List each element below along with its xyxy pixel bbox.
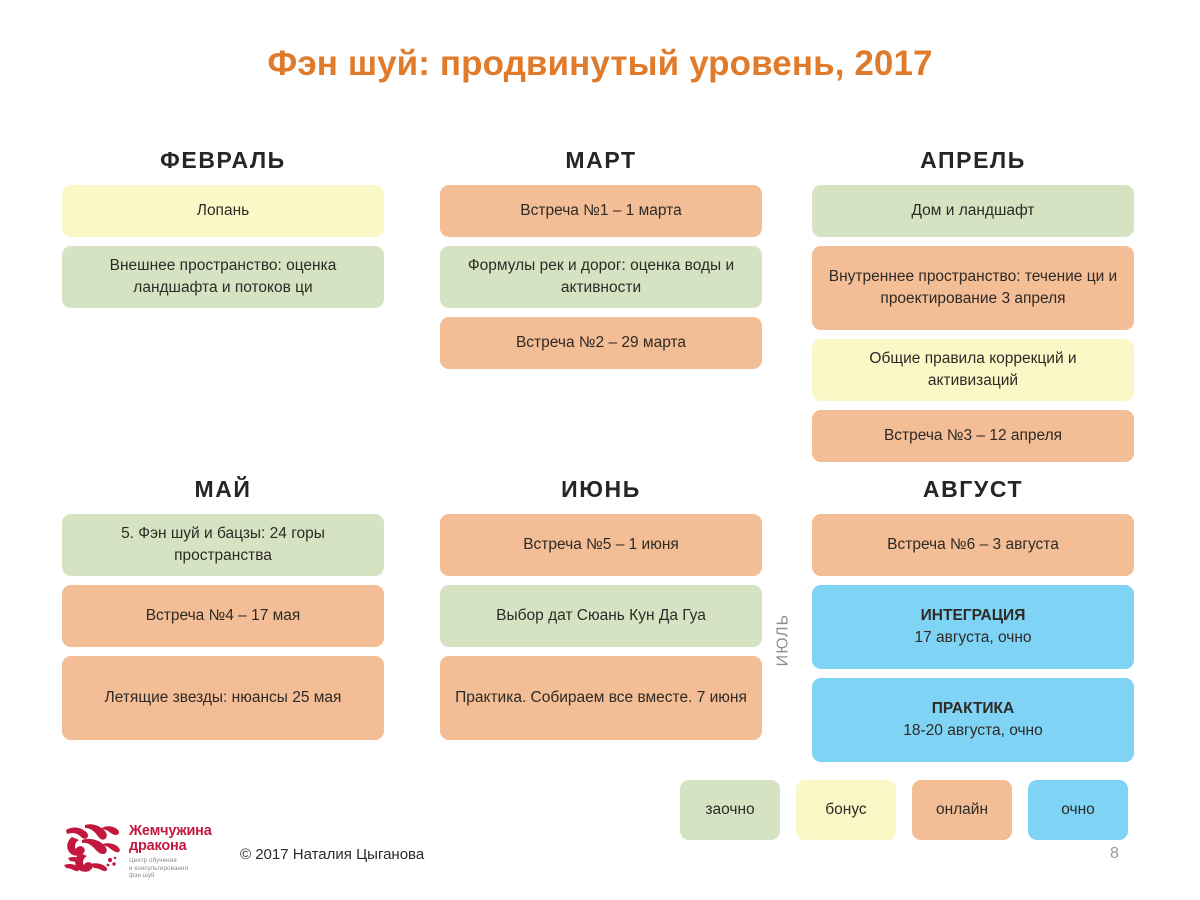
card-text: Внутреннее пространство: течение ци и пр… [826, 266, 1120, 310]
month-column-february: ФЕВРАЛЬ Лопань Внешнее пространство: оце… [62, 147, 384, 317]
card-may-3[interactable]: Летящие звезды: нюансы 25 мая [62, 656, 384, 740]
month-column-august: АВГУСТ Встреча №6 – 3 августа ИНТЕГРАЦИЯ… [812, 476, 1134, 771]
card-february-1[interactable]: Лопань [62, 185, 384, 237]
card-text: Встреча №2 – 29 марта [454, 332, 748, 354]
card-text: Общие правила коррекций и активизаций [826, 348, 1120, 392]
card-text: Летящие звезды: нюансы 25 мая [76, 687, 370, 709]
legend-item-bonus[interactable]: бонус [796, 780, 896, 840]
legend-label: заочно [705, 801, 754, 819]
card-may-1[interactable]: 5. Фэн шуй и бацзы: 24 горы пространства [62, 514, 384, 576]
card-april-2[interactable]: Внутреннее пространство: течение ци и пр… [812, 246, 1134, 330]
card-march-1[interactable]: Встреча №1 – 1 марта [440, 185, 762, 237]
card-june-1[interactable]: Встреча №5 – 1 июня [440, 514, 762, 576]
card-text: Формулы рек и дорог: оценка воды и актив… [454, 255, 748, 299]
month-heading-march: МАРТ [440, 147, 762, 174]
card-text: Встреча №4 – 17 мая [76, 605, 370, 627]
card-june-3[interactable]: Практика. Собираем все вместе. 7 июня [440, 656, 762, 740]
brand-name-line2: дракона [129, 839, 212, 854]
card-text: Встреча №5 – 1 июня [454, 534, 748, 556]
card-august-integration[interactable]: ИНТЕГРАЦИЯ 17 августа, очно [812, 585, 1134, 669]
card-april-4[interactable]: Встреча №3 – 12 апреля [812, 410, 1134, 462]
card-march-2[interactable]: Формулы рек и дорог: оценка воды и актив… [440, 246, 762, 308]
month-heading-june: ИЮНЬ [440, 476, 762, 503]
dragon-icon [58, 820, 122, 878]
brand-tagline-line1: Центр обучения [129, 857, 212, 865]
card-august-1[interactable]: Встреча №6 – 3 августа [812, 514, 1134, 576]
month-heading-february: ФЕВРАЛЬ [62, 147, 384, 174]
legend-label: очно [1061, 801, 1095, 819]
card-february-2[interactable]: Внешнее пространство: оценка ландшафта и… [62, 246, 384, 308]
card-title: ИНТЕГРАЦИЯ [921, 607, 1026, 624]
legend: заочно бонус онлайн очно [680, 780, 1128, 840]
card-text: 5. Фэн шуй и бацзы: 24 горы пространства [76, 523, 370, 567]
card-text: Встреча №3 – 12 апреля [826, 425, 1120, 447]
brand-name-line1: Жемчужина [129, 824, 212, 839]
month-column-april: АПРЕЛЬ Дом и ландшафт Внутреннее простра… [812, 147, 1134, 471]
month-heading-august: АВГУСТ [812, 476, 1134, 503]
month-label-july-text: ИЮЛЬ [774, 614, 792, 667]
card-title: ПРАКТИКА [932, 700, 1014, 717]
month-column-june: ИЮНЬ Встреча №5 – 1 июня Выбор дат Сюань… [440, 476, 762, 749]
card-text: Встреча №6 – 3 августа [826, 534, 1120, 556]
card-text: 17 августа, очно [914, 629, 1031, 646]
card-text: Выбор дат Сюань Кун Да Гуа [454, 605, 748, 627]
page-number: 8 [1110, 845, 1119, 863]
page-title: Фэн шуй: продвинутый уровень, 2017 [0, 44, 1200, 84]
card-march-3[interactable]: Встреча №2 – 29 марта [440, 317, 762, 369]
legend-label: онлайн [936, 801, 988, 819]
card-april-3[interactable]: Общие правила коррекций и активизаций [812, 339, 1134, 401]
brand-logo-text: Жемчужина дракона Центр обучения и консу… [129, 820, 212, 880]
card-april-1[interactable]: Дом и ландшафт [812, 185, 1134, 237]
card-text: Встреча №1 – 1 марта [454, 200, 748, 222]
brand-logo: Жемчужина дракона Центр обучения и консу… [58, 820, 212, 880]
copyright-notice: © 2017 Наталия Цыганова [240, 846, 424, 863]
card-june-2[interactable]: Выбор дат Сюань Кун Да Гуа [440, 585, 762, 647]
card-text: Внешнее пространство: оценка ландшафта и… [76, 255, 370, 299]
card-may-2[interactable]: Встреча №4 – 17 мая [62, 585, 384, 647]
card-text: Практика. Собираем все вместе. 7 июня [454, 687, 748, 709]
legend-item-zaochno[interactable]: заочно [680, 780, 780, 840]
card-text: Лопань [76, 200, 370, 222]
slide-canvas: Фэн шуй: продвинутый уровень, 2017 ФЕВРА… [0, 0, 1200, 900]
legend-label: бонус [825, 801, 866, 819]
month-heading-april: АПРЕЛЬ [812, 147, 1134, 174]
legend-item-ochno[interactable]: очно [1028, 780, 1128, 840]
card-text: Дом и ландшафт [826, 200, 1120, 222]
brand-tagline-line3: фэн шуй [129, 872, 212, 880]
card-august-practice[interactable]: ПРАКТИКА 18-20 августа, очно [812, 678, 1134, 762]
month-heading-may: МАЙ [62, 476, 384, 503]
brand-tagline-line2: и консультирования [129, 865, 212, 873]
month-label-july: ИЮЛЬ [772, 525, 794, 755]
month-column-may: МАЙ 5. Фэн шуй и бацзы: 24 горы простран… [62, 476, 384, 749]
month-column-march: МАРТ Встреча №1 – 1 марта Формулы рек и … [440, 147, 762, 378]
card-text: 18-20 августа, очно [903, 722, 1042, 739]
legend-item-online[interactable]: онлайн [912, 780, 1012, 840]
